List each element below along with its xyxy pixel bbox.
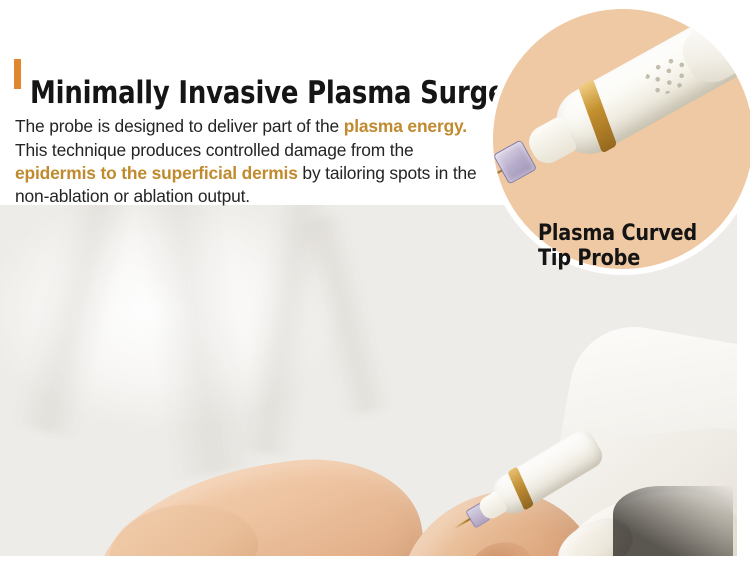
page-title: Minimally Invasive Plasma Surgery — [30, 77, 535, 109]
header-block: Minimally Invasive Plasma Surgery The pr… — [0, 0, 500, 205]
promo-banner: Minimally Invasive Plasma Surgery The pr… — [0, 0, 750, 575]
photo-corner-shadow — [613, 486, 733, 556]
description-text: The probe is designed to deliver part of… — [15, 116, 344, 136]
photo-right-margin — [737, 205, 750, 556]
plasma-curved-tip-probe — [499, 12, 750, 191]
description-text: This technique produces controlled damag… — [15, 140, 414, 160]
description-highlight: epidermis to the superficial dermis — [15, 163, 298, 183]
product-caption: Plasma Curved Tip Probe — [538, 221, 728, 271]
description-highlight: plasma energy. — [344, 116, 467, 136]
photo-bottom-margin — [0, 556, 750, 575]
description-paragraph: The probe is designed to deliver part of… — [15, 115, 485, 208]
title-accent-bar — [14, 59, 21, 89]
